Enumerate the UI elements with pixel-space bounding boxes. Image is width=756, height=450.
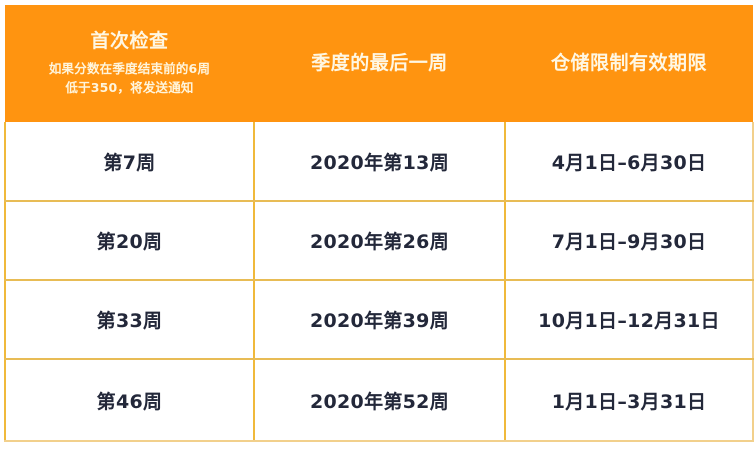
cell-storage-limit-period: 1月1日–3月31日	[505, 359, 753, 441]
table-header: 首次检查 如果分数在季度结束前的6周 低于350，将发送通知 季度的最后一周 仓…	[5, 5, 753, 122]
cell-storage-limit-period: 4月1日–6月30日	[505, 122, 753, 201]
cell-first-check-week-text: 第46周	[97, 387, 163, 414]
column-header-storage-limit-period-title: 仓储限制有效期限	[511, 51, 747, 77]
cell-first-check-week-text: 第33周	[97, 306, 163, 333]
column-header-storage-limit-period: 仓储限制有效期限	[505, 5, 753, 122]
column-header-first-check-subtitle-line1: 如果分数在季度结束前的6周	[11, 59, 248, 78]
column-header-first-check-subtitle-line2: 低于350，将发送通知	[11, 78, 248, 97]
table-header-row: 首次检查 如果分数在季度结束前的6周 低于350，将发送通知 季度的最后一周 仓…	[5, 5, 753, 122]
cell-storage-limit-period: 7月1日–9月30日	[505, 201, 753, 280]
cell-first-check-week-text: 第20周	[97, 227, 163, 254]
column-header-quarter-last-week-title: 季度的最后一周	[260, 51, 499, 77]
column-header-first-check: 首次检查 如果分数在季度结束前的6周 低于350，将发送通知	[5, 5, 254, 122]
cell-storage-limit-period-text: 7月1日–9月30日	[552, 227, 707, 254]
cell-first-check-week: 第46周	[5, 359, 254, 441]
cell-first-check-week-text: 第7周	[103, 148, 155, 175]
column-header-first-check-title: 首次检查	[11, 29, 248, 55]
table-row: 第7周 2020年第13周 4月1日–6月30日	[5, 122, 753, 201]
table-row: 第33周 2020年第39周 10月1日–12月31日	[5, 280, 753, 359]
cell-quarter-last-week-text: 2020年第52周	[310, 387, 449, 414]
table-body: 第7周 2020年第13周 4月1日–6月30日 第20周 2020年第26周 …	[5, 122, 753, 441]
cell-quarter-last-week: 2020年第52周	[254, 359, 505, 441]
storage-limit-table: 首次检查 如果分数在季度结束前的6周 低于350，将发送通知 季度的最后一周 仓…	[4, 5, 754, 442]
cell-quarter-last-week: 2020年第26周	[254, 201, 505, 280]
cell-quarter-last-week: 2020年第13周	[254, 122, 505, 201]
cell-quarter-last-week-text: 2020年第26周	[310, 227, 449, 254]
cell-first-check-week: 第7周	[5, 122, 254, 201]
column-header-first-check-subtitle: 如果分数在季度结束前的6周 低于350，将发送通知	[11, 59, 248, 98]
cell-quarter-last-week-text: 2020年第13周	[310, 148, 449, 175]
cell-first-check-week: 第20周	[5, 201, 254, 280]
cell-storage-limit-period-text: 1月1日–3月31日	[552, 387, 707, 414]
ipi-storage-limit-table-container: 首次检查 如果分数在季度结束前的6周 低于350，将发送通知 季度的最后一周 仓…	[4, 5, 752, 441]
cell-storage-limit-period: 10月1日–12月31日	[505, 280, 753, 359]
table-row: 第46周 2020年第52周 1月1日–3月31日	[5, 359, 753, 441]
cell-storage-limit-period-text: 10月1日–12月31日	[538, 306, 720, 333]
table-row: 第20周 2020年第26周 7月1日–9月30日	[5, 201, 753, 280]
cell-storage-limit-period-text: 4月1日–6月30日	[552, 148, 707, 175]
cell-quarter-last-week: 2020年第39周	[254, 280, 505, 359]
cell-first-check-week: 第33周	[5, 280, 254, 359]
column-header-quarter-last-week: 季度的最后一周	[254, 5, 505, 122]
cell-quarter-last-week-text: 2020年第39周	[310, 306, 449, 333]
